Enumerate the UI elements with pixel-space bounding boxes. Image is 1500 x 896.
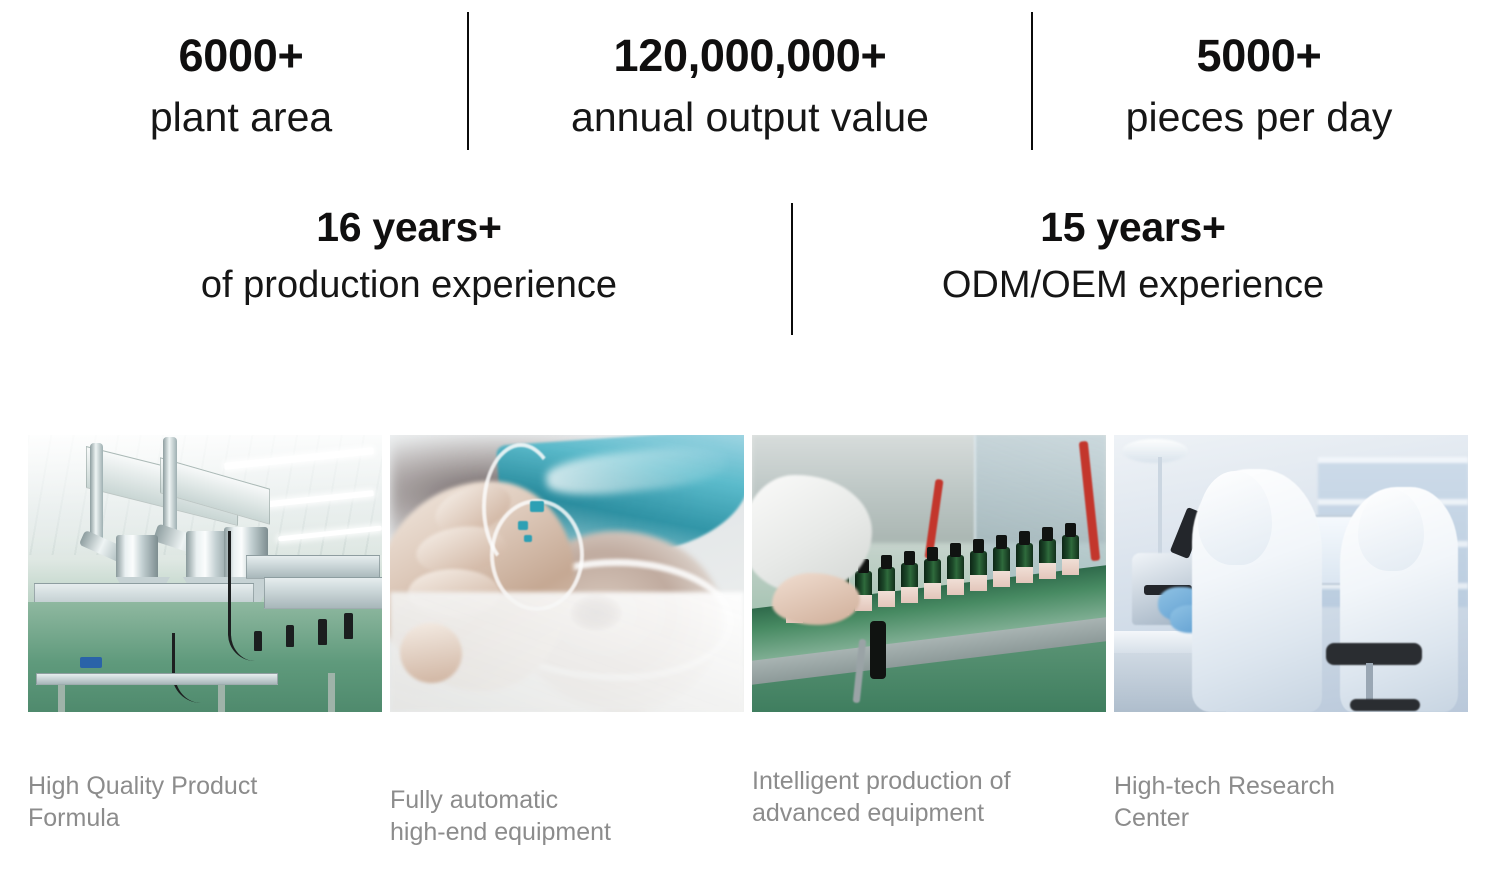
stat-label: annual output value [571, 95, 929, 140]
stat-plant-area: 6000+ plant area [15, 0, 467, 190]
stats-row-primary: 6000+ plant area 120,000,000+ annual out… [0, 0, 1500, 190]
gallery-card: High Quality Product Formula [28, 435, 382, 848]
gallery-caption: High-tech Research Center [1114, 770, 1468, 834]
gallery-section: High Quality Product Formula Fully autom… [28, 435, 1452, 848]
lab-technician-beaker-photo [390, 435, 744, 712]
stat-label: of production experience [201, 265, 617, 307]
cleanroom-research-photo [1114, 435, 1468, 712]
research-center-photo-card: High-tech Research Center [1114, 435, 1468, 848]
stat-odm-oem-experience: 15 years+ ODM/OEM experience [793, 190, 1473, 355]
bottling-conveyor-photo [752, 435, 1106, 712]
gallery-caption: Intelligent production of advanced equip… [752, 765, 1106, 829]
stats-row-secondary: 16 years+ of production experience 15 ye… [0, 190, 1500, 355]
bottling-conveyor-photo-card: Intelligent production of advanced equip… [752, 435, 1106, 848]
gallery-caption: Fully automatic high-end equipment [390, 784, 744, 848]
stat-value: 6000+ [179, 32, 304, 79]
stat-label: ODM/OEM experience [942, 265, 1324, 307]
stat-pieces-per-day: 5000+ pieces per day [1033, 0, 1485, 190]
gallery-caption: High Quality Product Formula [28, 770, 382, 834]
stat-annual-output-value: 120,000,000+ annual output value [469, 0, 1031, 190]
stat-label: pieces per day [1126, 95, 1393, 140]
stat-value: 15 years+ [1040, 206, 1225, 249]
stat-value: 5000+ [1197, 32, 1322, 79]
stats-section: 6000+ plant area 120,000,000+ annual out… [0, 0, 1500, 355]
stat-production-experience: 16 years+ of production experience [27, 190, 791, 355]
stat-value: 16 years+ [316, 206, 501, 249]
stat-value: 120,000,000+ [614, 32, 887, 79]
factory-filling-line-photo [28, 435, 382, 712]
gallery-card: Fully automatic high-end equipment [390, 435, 744, 848]
stat-label: plant area [150, 95, 332, 140]
